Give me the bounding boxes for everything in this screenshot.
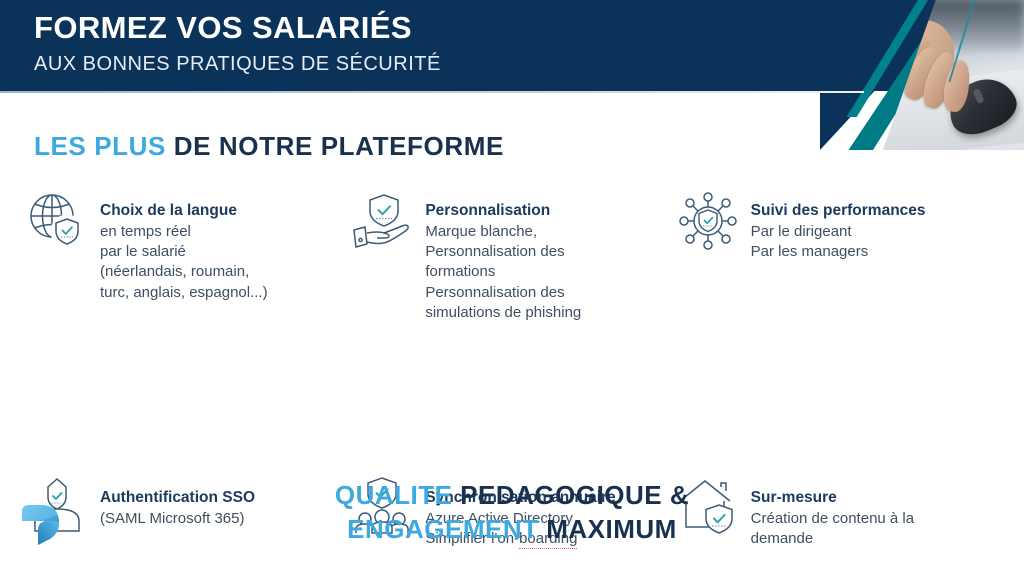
- feature-line: Personnalisation des: [425, 283, 581, 303]
- feature-line: (néerlandais, roumain,: [100, 262, 268, 282]
- tagline-accent-1: QUALITE: [335, 480, 453, 510]
- feature-title: Suivi des performances: [751, 202, 926, 221]
- brand-logo-d: [14, 500, 64, 550]
- network-hub-shield-icon: [677, 190, 739, 252]
- feature-line: par le salarié: [100, 242, 268, 262]
- feature-text: Personnalisation Marque blanche, Personn…: [425, 188, 581, 323]
- header-subtitle: AUX BONNES PRATIQUES DE SÉCURITÉ: [34, 52, 441, 76]
- feature-text: Choix de la langue en temps réel par le …: [100, 188, 268, 303]
- feature-title: Choix de la langue: [100, 202, 268, 221]
- feature-line: Personnalisation des: [425, 242, 581, 262]
- feature-title: Personnalisation: [425, 202, 581, 221]
- features-row-1: Choix de la langue en temps réel par le …: [26, 188, 1002, 323]
- header-text-block: FORMEZ VOS SALARIÉS AUX BONNES PRATIQUES…: [34, 10, 441, 76]
- feature-line: en temps réel: [100, 222, 268, 242]
- tagline-accent-2: ENGAGEMENT: [347, 514, 538, 544]
- feature-line: simulations de phishing: [425, 303, 581, 323]
- feature-item-choix-de-la-langue: Choix de la langue en temps réel par le …: [26, 188, 351, 323]
- feature-line: Marque blanche,: [425, 222, 581, 242]
- feature-item-personnalisation: Personnalisation Marque blanche, Personn…: [351, 188, 676, 323]
- globe-shield-check-icon: [26, 190, 88, 252]
- section-title-accent: LES PLUS: [34, 131, 166, 161]
- tagline-rest-1: PEDAGOGIQUE &: [452, 480, 689, 510]
- feature-item-suivi-des-performances: Suivi des performances Par le dirigeant …: [677, 188, 1002, 323]
- section-title-rest: DE NOTRE PLATEFORME: [166, 131, 504, 161]
- feature-line: formations: [425, 262, 581, 282]
- header-title: FORMEZ VOS SALARIÉS: [34, 10, 441, 47]
- feature-text: Suivi des performances Par le dirigeant …: [751, 188, 926, 262]
- hand-holding-shield-icon: [351, 190, 413, 252]
- section-title: LES PLUS DE NOTRE PLATEFORME: [34, 131, 504, 162]
- feature-line: Par les managers: [751, 242, 926, 262]
- tagline-line-1: QUALITE PEDAGOGIQUE &: [0, 478, 1024, 512]
- header-divider: [0, 91, 864, 93]
- footer-tagline: QUALITE PEDAGOGIQUE & ENGAGEMENT MAXIMUM: [0, 478, 1024, 547]
- tagline-line-2: ENGAGEMENT MAXIMUM: [0, 512, 1024, 546]
- tagline-rest-2: MAXIMUM: [539, 514, 677, 544]
- feature-line: turc, anglais, espagnol...): [100, 283, 268, 303]
- feature-line: Par le dirigeant: [751, 222, 926, 242]
